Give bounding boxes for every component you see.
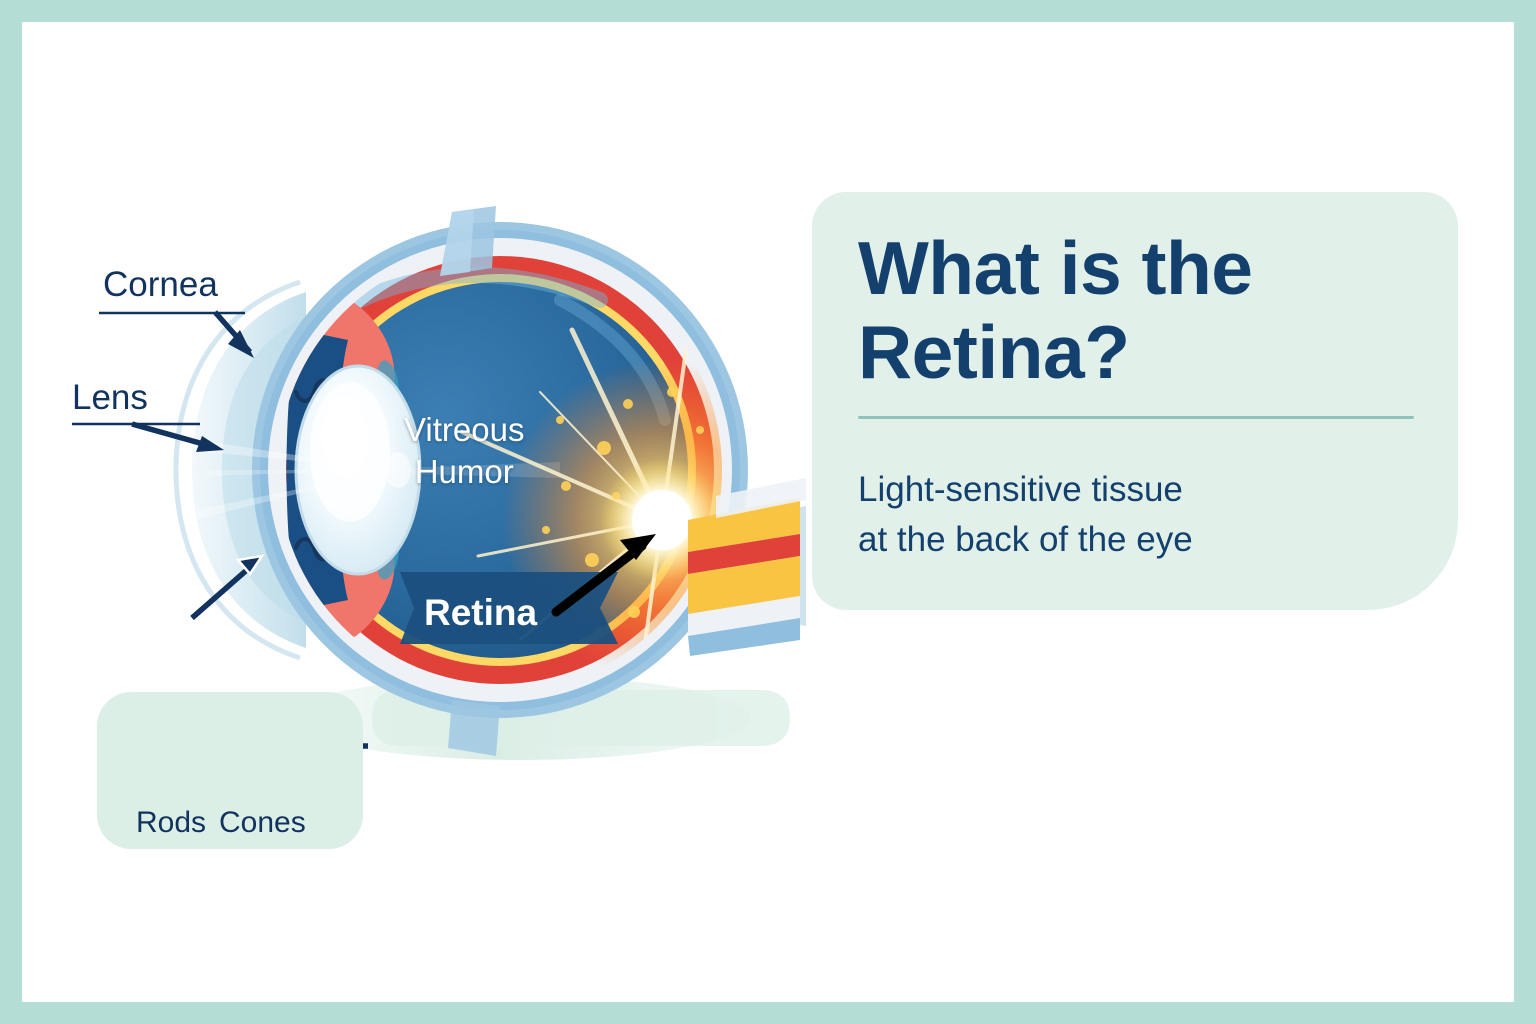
title-card: What is the Retina? Light-sensitive tiss… bbox=[812, 192, 1458, 610]
caption-rods: Rods bbox=[136, 806, 206, 840]
page-title: What is the Retina? bbox=[858, 226, 1412, 394]
title-divider bbox=[858, 416, 1414, 419]
label-retina: Retina bbox=[424, 592, 537, 634]
label-lens: Lens bbox=[72, 378, 148, 418]
label-vitreous-humor: Vitreous Humor bbox=[404, 409, 524, 493]
infographic-canvas: Cornea Lens Vitreous Humor Retina Rods C… bbox=[0, 0, 1536, 1024]
label-cornea: Cornea bbox=[103, 265, 218, 305]
sclera-cutaway-flap bbox=[440, 206, 496, 276]
page-subtitle: Light-sensitive tissue at the back of th… bbox=[858, 465, 1412, 564]
sclera-cutaway-flap-bottom bbox=[448, 700, 500, 756]
caption-cones: Cones bbox=[219, 806, 306, 840]
